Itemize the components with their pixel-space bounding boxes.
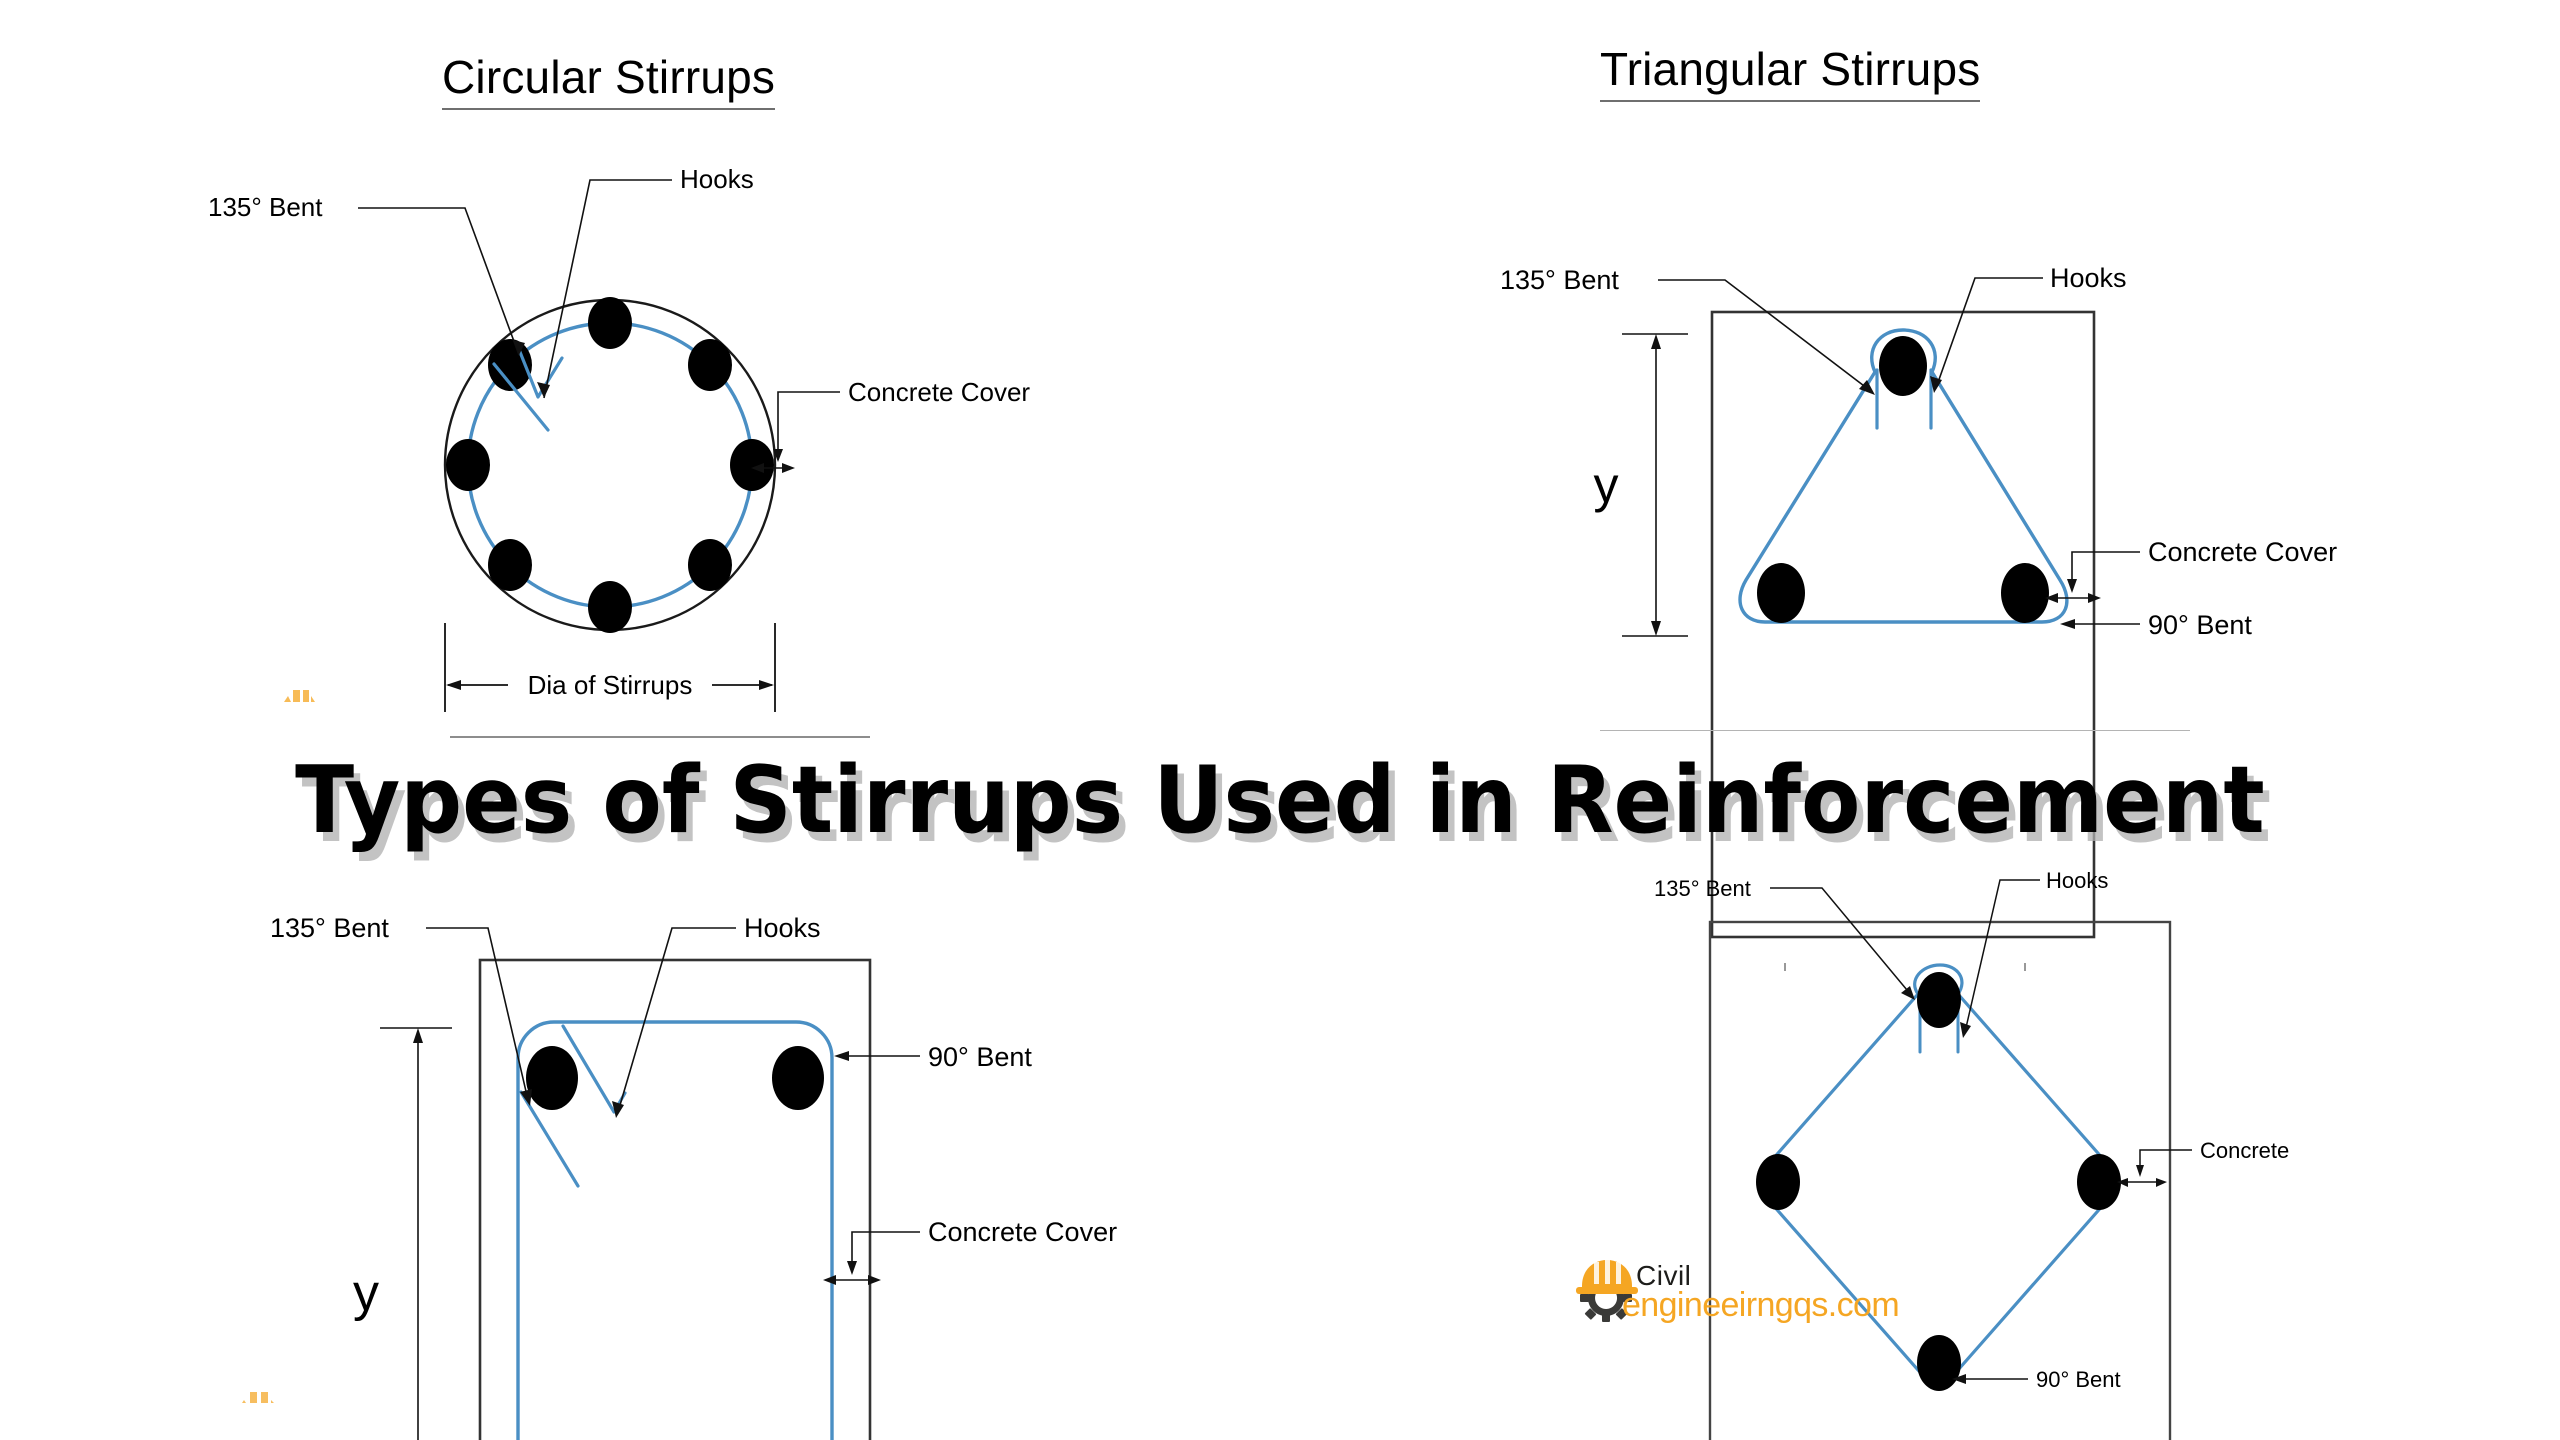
triangular-stirrup-diagram: 135° Bent Hooks Concrete Cover 90° Bent — [1480, 250, 2380, 720]
rebar-group — [1757, 336, 2049, 623]
circular-stirrup-diagram: 135° Bent Hooks Concrete Cover Dia of St… — [280, 230, 1080, 730]
concrete-outline-rect — [480, 960, 870, 1440]
leader-hooks — [1936, 278, 2043, 388]
triangular-title-text: Triangular Stirrups — [1600, 43, 1980, 95]
leader-135-bent — [1658, 280, 1872, 392]
rebar-dot — [1756, 1154, 1800, 1210]
leader-135-bent — [358, 208, 519, 355]
label-hooks: Hooks — [2050, 263, 2127, 293]
label-concrete-cover: Concrete Cover — [848, 377, 1030, 407]
rebar-dot — [688, 539, 732, 591]
banner-rule-right — [1600, 730, 2190, 731]
main-banner: Types of Stirrups Used in Reinforcement — [0, 745, 2560, 855]
rebar-dot — [2077, 1154, 2121, 1210]
dimension-y — [1622, 334, 1688, 636]
rebar-dot — [488, 539, 532, 591]
rebar-group — [526, 1046, 824, 1440]
concrete-outline-rect — [1712, 312, 2094, 937]
circular-section-title: Circular Stirrups — [442, 50, 775, 110]
rebar-dot — [1879, 336, 1927, 396]
label-135-bent: 135° Bent — [1500, 265, 1619, 295]
circular-title-text: Circular Stirrups — [442, 51, 775, 103]
label-dim-y: y — [1594, 457, 1619, 513]
rebar-dot — [688, 339, 732, 391]
watermark-fragment-top — [278, 682, 318, 704]
dimension-y — [380, 1028, 452, 1440]
label-concrete-cover: Concrete Cover — [928, 1217, 1117, 1247]
leader-concrete-cover — [2120, 1150, 2192, 1182]
label-135-bent: 135° Bent — [270, 913, 389, 943]
rebar-group — [446, 297, 774, 633]
label-dia-of-stirrups: Dia of Stirrups — [528, 670, 693, 700]
rebar-dot — [1917, 972, 1961, 1028]
label-hooks: Hooks — [744, 913, 821, 943]
label-concrete-cover: Concrete — [2200, 1138, 2289, 1163]
triangular-section-title: Triangular Stirrups — [1600, 42, 1980, 102]
leader-hooks — [618, 928, 736, 1112]
leader-hooks — [1965, 880, 2040, 1032]
watermark-fragment-bottom — [238, 1386, 278, 1406]
rebar-dot — [772, 1046, 824, 1110]
label-135-bent: 135° Bent — [1654, 876, 1751, 901]
logo-brand-bottom: engineeirngqs.com — [1622, 1286, 1899, 1325]
rebar-dot — [730, 439, 774, 491]
rectangular-stirrup-diagram: 135° Bent Hooks 90° Bent Concrete Cover — [240, 860, 1160, 1420]
banner-rule-left — [450, 736, 870, 738]
rebar-dot — [446, 439, 490, 491]
rebar-dot — [588, 297, 632, 349]
rebar-dot — [588, 581, 632, 633]
label-concrete-cover: Concrete Cover — [2148, 537, 2337, 567]
rebar-dot — [1917, 1335, 1961, 1391]
leader-135-bent — [426, 928, 528, 1100]
diagram-canvas: Circular Stirrups 135° Bent — [0, 0, 2560, 1440]
rebar-dot — [1757, 563, 1805, 623]
label-90-bent: 90° Bent — [2036, 1367, 2121, 1392]
label-90-bent: 90° Bent — [2148, 610, 2252, 640]
site-logo[interactable]: Civil engineeirngqs.com — [1576, 1256, 1876, 1342]
diamond-stirrup-diagram: 135° Bent Hooks Concrete 90° Bent — [1640, 860, 2480, 1280]
circular-title-underline — [442, 108, 775, 110]
rebar-dot — [526, 1046, 578, 1110]
label-135-bent: 135° Bent — [208, 192, 323, 222]
hook-detail — [521, 1026, 625, 1186]
rebar-dot — [2001, 563, 2049, 623]
label-hooks: Hooks — [680, 164, 754, 194]
leader-concrete-cover — [826, 1232, 920, 1280]
label-dim-y: y — [353, 1264, 379, 1322]
leader-135-bent — [1770, 888, 1912, 996]
leader-hooks — [544, 180, 672, 398]
triangular-title-underline — [1600, 100, 1980, 102]
page-title: Types of Stirrups Used in Reinforcement — [295, 754, 2265, 847]
label-90-bent: 90° Bent — [928, 1042, 1032, 1072]
label-hooks: Hooks — [2046, 868, 2108, 893]
